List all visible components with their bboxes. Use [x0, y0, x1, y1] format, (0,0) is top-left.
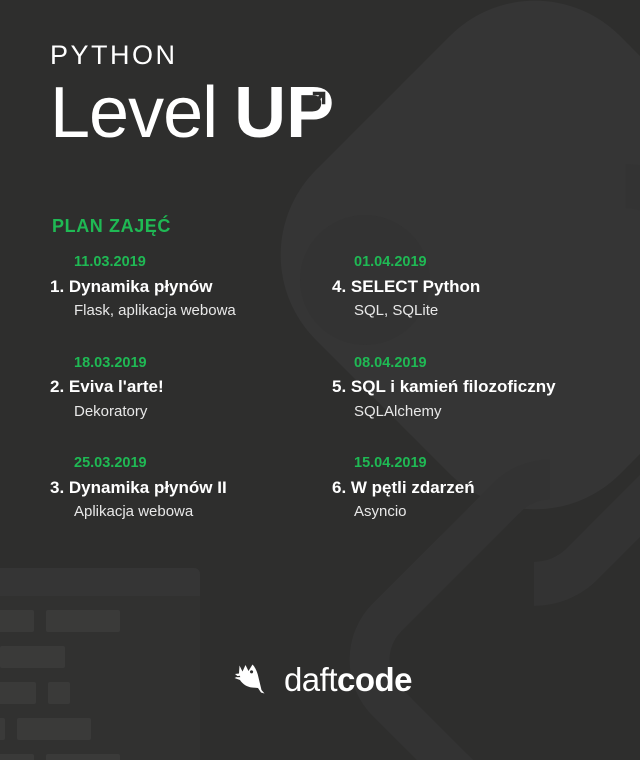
session-date: 18.03.2019 [50, 353, 328, 375]
session-item: 15.04.2019 6. W pętli zdarzeń Asyncio [332, 453, 610, 524]
code-line [0, 754, 200, 760]
session-description: SQL, SQLite [332, 300, 610, 323]
session-date: 01.04.2019 [332, 252, 610, 274]
session-item: 25.03.2019 3. Dynamika płynów II Aplikac… [50, 453, 328, 524]
session-description: Dekoratory [50, 401, 328, 424]
session-title: 3. Dynamika płynów II [50, 475, 328, 501]
session-title: 6. W pętli zdarzeń [332, 475, 610, 501]
session-description: Asyncio [332, 501, 610, 524]
session-item: 01.04.2019 4. SELECT Python SQL, SQLite [332, 252, 610, 323]
brand-light-part: daft [284, 661, 337, 698]
session-description: SQLAlchemy [332, 401, 610, 424]
poster-header: PYTHON Level UP [50, 42, 334, 149]
session-title: 5. SQL i kamień filozoficzny [332, 374, 610, 400]
session-description: Aplikacja webowa [50, 501, 328, 524]
plan-heading: PLAN ZAJĘĆ [52, 216, 171, 237]
footer-logo: daftcode [0, 657, 640, 701]
title-bold-part: UP [234, 77, 334, 149]
page-title: Level UP [50, 77, 334, 149]
title-bold-text: UP [234, 73, 334, 153]
code-line [0, 718, 200, 740]
title-light-part: Level [50, 77, 217, 149]
session-item: 11.03.2019 1. Dynamika płynów Flask, apl… [50, 252, 328, 323]
session-date: 11.03.2019 [50, 252, 328, 274]
session-description: Flask, aplikacja webowa [50, 300, 328, 323]
schnauzer-dog-head-icon [228, 657, 272, 701]
poster-canvas: PYTHON Level UP PLAN ZAJĘĆ 11.03.2019 1.… [0, 0, 640, 760]
arrow-up-right-icon [305, 87, 331, 113]
brand-bold-part: code [337, 661, 412, 698]
kicker-text: PYTHON [50, 42, 334, 69]
session-date: 08.04.2019 [332, 353, 610, 375]
schedule-grid: 11.03.2019 1. Dynamika płynów Flask, apl… [50, 252, 610, 524]
code-editor-titlebar [0, 568, 200, 596]
code-line [0, 610, 200, 632]
session-date: 25.03.2019 [50, 453, 328, 475]
session-item: 08.04.2019 5. SQL i kamień filozoficzny … [332, 353, 610, 424]
session-title: 4. SELECT Python [332, 274, 610, 300]
session-title: 2. Eviva l'arte! [50, 374, 328, 400]
session-date: 15.04.2019 [332, 453, 610, 475]
session-item: 18.03.2019 2. Eviva l'arte! Dekoratory [50, 353, 328, 424]
session-title: 1. Dynamika płynów [50, 274, 328, 300]
brand-wordmark: daftcode [284, 663, 412, 696]
